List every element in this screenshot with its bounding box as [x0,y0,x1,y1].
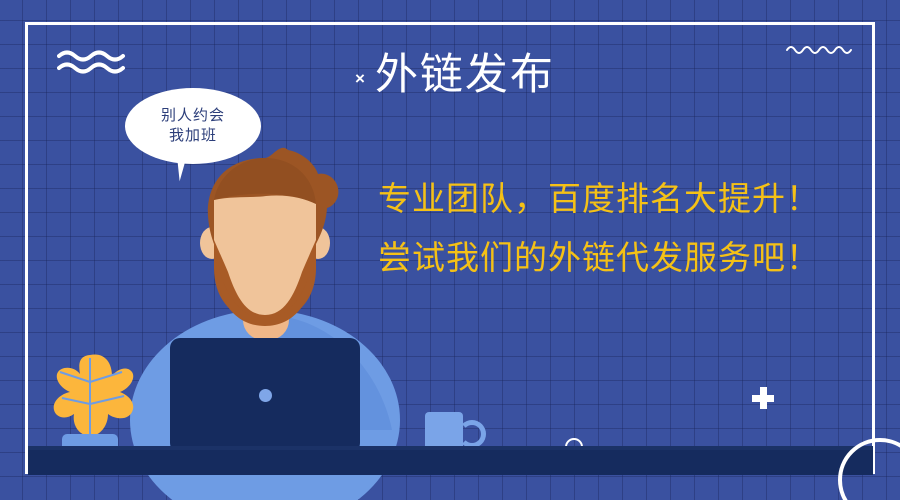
banner-root: 别人约会 我加班 × 外链发布 专业团队，百度排名大提升！ 尝试我们的外链代发服… [0,0,900,500]
page-title-text: 外链发布 [375,54,555,97]
speech-bubble-line-1: 别人约会 [161,106,225,126]
speech-bubble: 别人约会 我加班 [125,88,261,164]
headline-line-1: 专业团队，百度排名大提升！ [378,182,820,215]
laptop-logo-dot [259,389,272,402]
wave-top-left-icon [57,48,127,74]
speech-bubble-line-2: 我加班 [169,126,217,146]
close-icon[interactable]: × [355,70,365,87]
headline-line-2: 尝试我们的外链代发服务吧！ [378,241,820,274]
headline-group: 专业团队，百度排名大提升！ 尝试我们的外链代发服务吧！ [378,182,820,300]
plus-decoration-icon [752,387,774,409]
wave-top-right-icon [785,42,855,56]
page-title: × 外链发布 [355,54,555,97]
desk-surface [28,450,873,475]
